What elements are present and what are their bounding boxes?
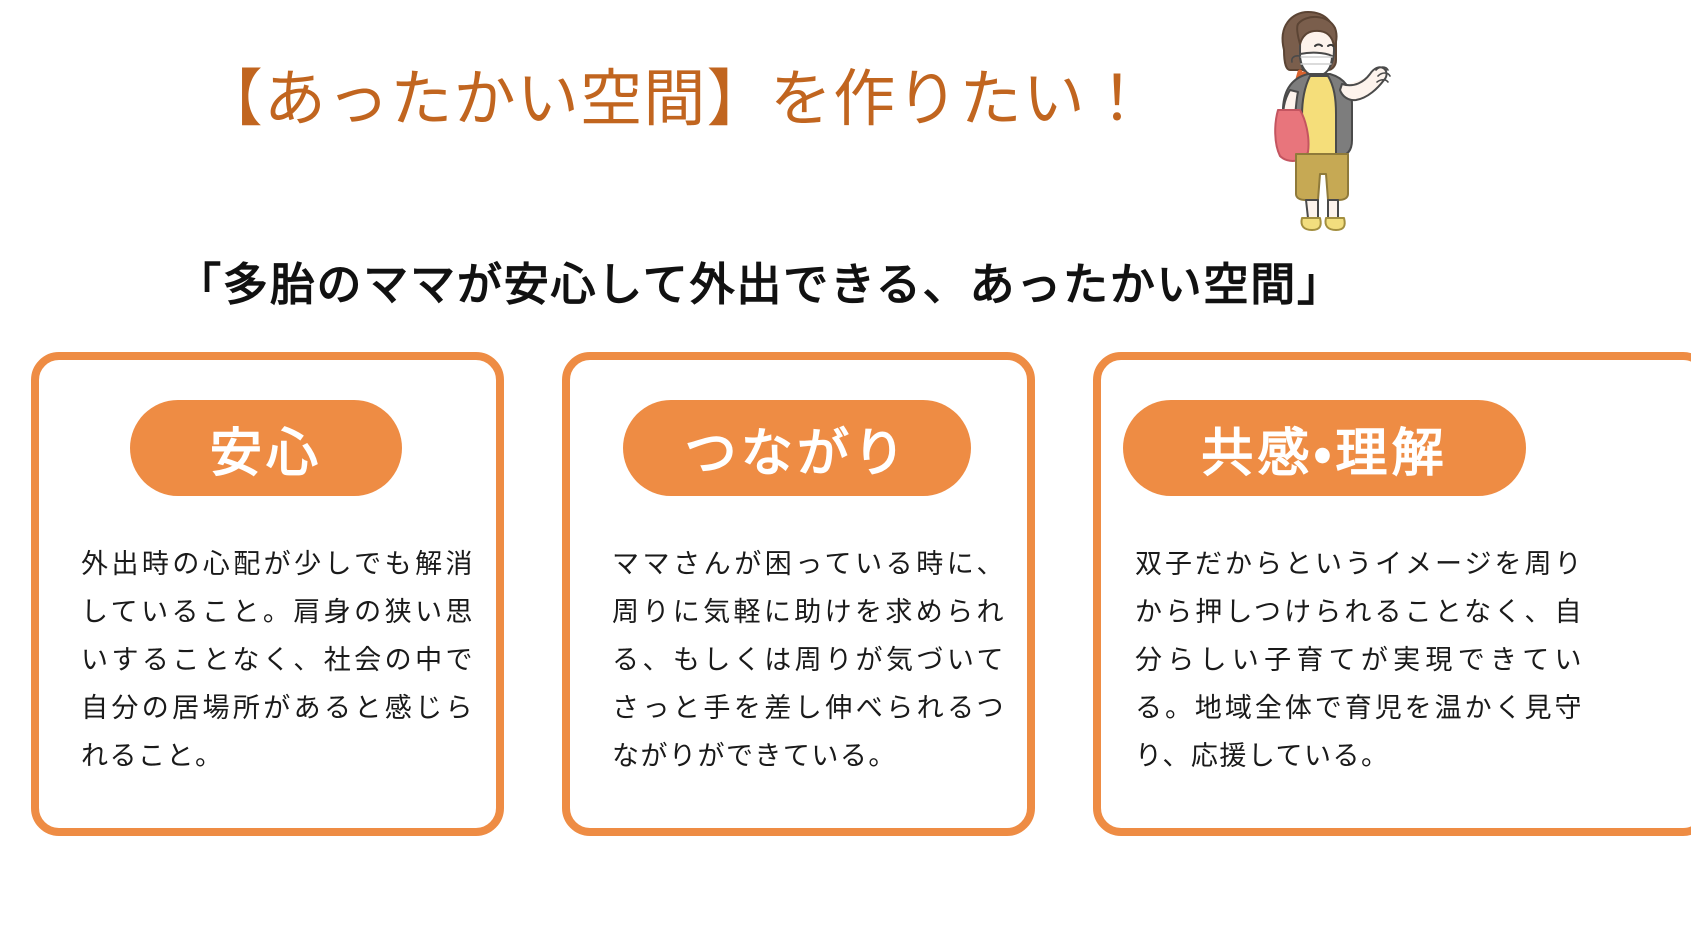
card-group: 安心 外出時の心配が少しでも解消していること。肩身の狭い思いすることなく、社会の… — [0, 352, 1691, 844]
card-body-tsunagari: ママさんが困っている時に、周りに気軽に助けを求められる、もしくは周りが気づいてさ… — [612, 540, 1005, 780]
card-badge-anshin: 安心 — [130, 400, 402, 496]
subtitle: 「多胎のママが安心して外出できる、あったかい空間」 — [0, 258, 1520, 312]
card-tsunagari: つながり ママさんが困っている時に、周りに気軽に助けを求められる、もしくは周りが… — [562, 352, 1035, 836]
masked-woman-illustration — [1248, 4, 1418, 236]
card-badge-kyokan-rikai: 共感・理解 — [1123, 400, 1526, 496]
card-body-kyokan-rikai: 双子だからというイメージを周りから押しつけられることなく、自分らしい子育てが実現… — [1135, 540, 1583, 780]
page-title: 【あったかい空間】を作りたい！ — [0, 66, 1350, 134]
card-body-anshin: 外出時の心配が少しでも解消していること。肩身の狭い思いすることなく、社会の中で自… — [81, 540, 474, 780]
card-kyokan-rikai: 共感・理解 双子だからというイメージを周りから押しつけられることなく、自分らしい… — [1093, 352, 1691, 836]
card-badge-tsunagari: つながり — [623, 400, 971, 496]
slide-root: 【あったかい空間】を作りたい！ — [0, 0, 1691, 943]
card-anshin: 安心 外出時の心配が少しでも解消していること。肩身の狭い思いすることなく、社会の… — [31, 352, 504, 836]
